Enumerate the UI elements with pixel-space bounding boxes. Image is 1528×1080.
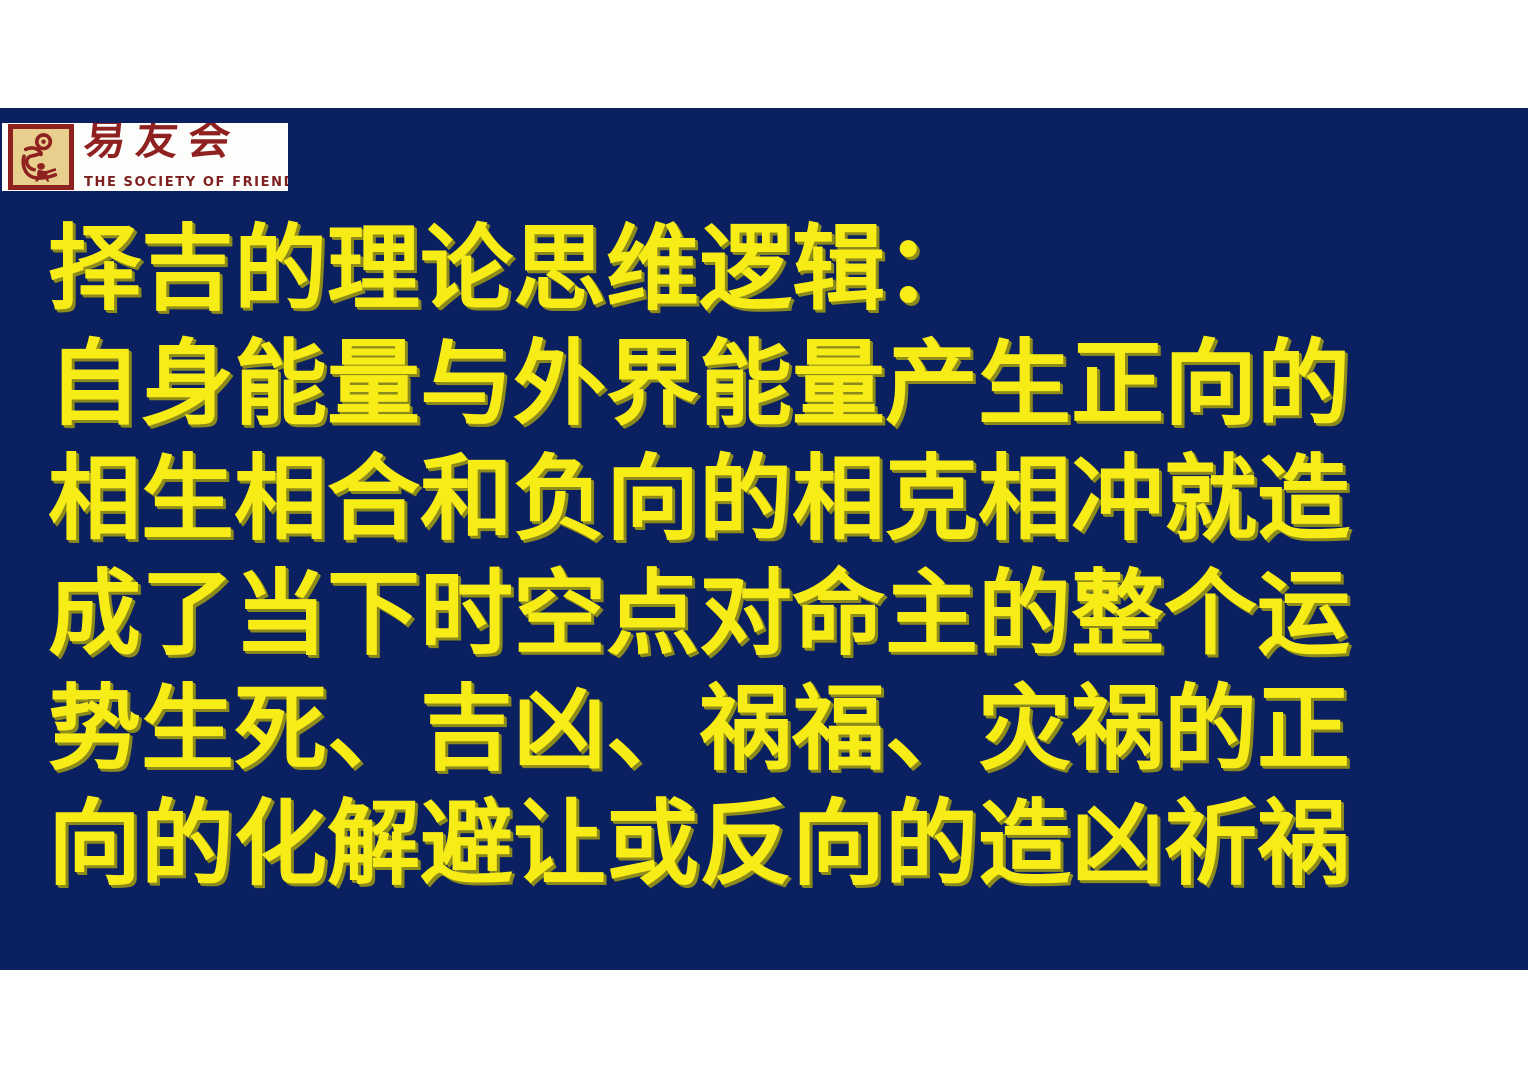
- brand-wordmark: 易友会 THE SOCIETY OF FRIENDS: [74, 123, 288, 191]
- slide-body-text: 择吉的理论思维逻辑： 自身能量与外界能量产生正向的 相生相合和负向的相克相冲就造…: [48, 212, 1508, 902]
- text-line: 向的化解避让或反向的造凶祈祸: [48, 787, 1508, 902]
- text-line: 择吉的理论思维逻辑：: [48, 212, 1508, 327]
- brand-logo: 易友会 THE SOCIETY OF FRIENDS: [2, 123, 288, 191]
- slide-root: 易友会 THE SOCIETY OF FRIENDS 择吉的理论思维逻辑： 自身…: [0, 0, 1528, 1080]
- society-of-friends-seal-icon: [8, 124, 74, 190]
- text-line: 成了当下时空点对命主的整个运: [48, 557, 1508, 672]
- text-line: 势生死、吉凶、祸福、灾祸的正: [48, 672, 1508, 787]
- slide-panel: 易友会 THE SOCIETY OF FRIENDS 择吉的理论思维逻辑： 自身…: [0, 108, 1528, 970]
- text-line: 相生相合和负向的相克相冲就造: [48, 442, 1508, 557]
- brand-name-chinese: 易友会: [82, 123, 242, 161]
- text-line: 自身能量与外界能量产生正向的: [48, 327, 1508, 442]
- brand-name-english: THE SOCIETY OF FRIENDS: [84, 176, 288, 189]
